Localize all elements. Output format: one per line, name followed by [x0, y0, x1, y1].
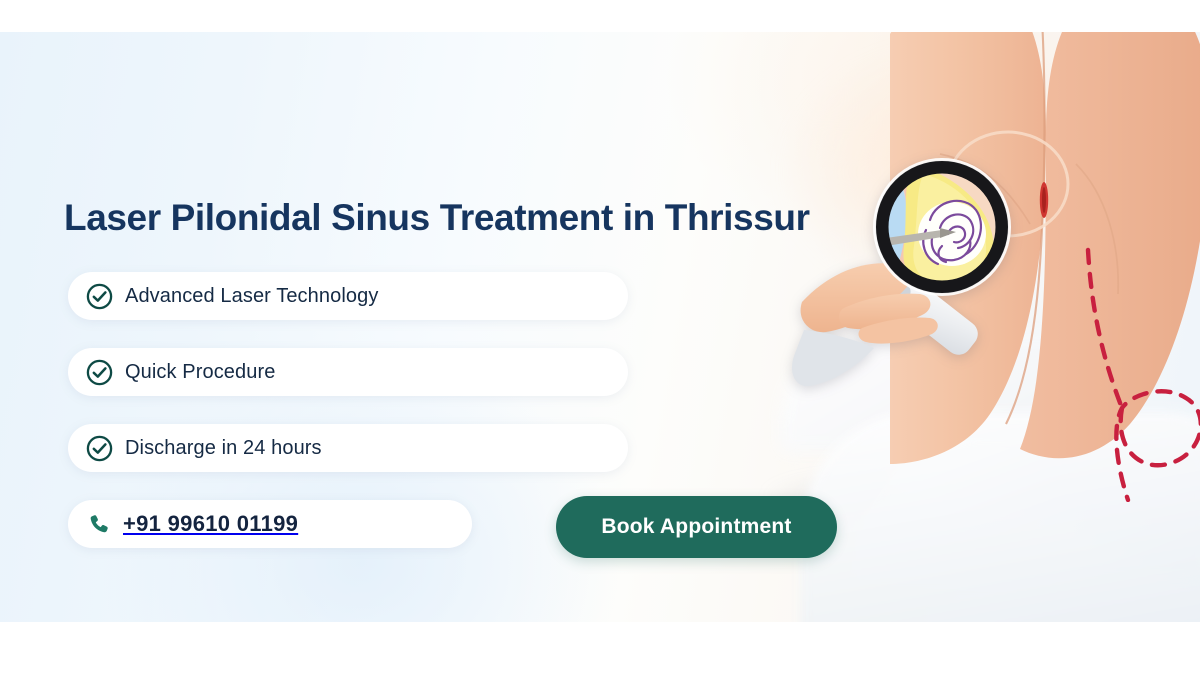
circle-check-icon	[86, 359, 113, 386]
magnifier-icon	[790, 142, 1050, 412]
feature-item-quick-procedure[interactable]: Quick Procedure	[68, 348, 628, 396]
cta-row: +91 99610 01199 Book Appointment	[68, 500, 868, 560]
feature-list: Advanced Laser Technology Quick Procedur…	[68, 272, 628, 500]
page-title: Laser Pilonidal Sinus Treatment in Thris…	[64, 197, 810, 239]
feature-label: Advanced Laser Technology	[125, 285, 378, 308]
circle-check-icon	[86, 283, 113, 310]
page-root: Laser Pilonidal Sinus Treatment in Thris…	[0, 0, 1200, 675]
feature-label: Quick Procedure	[125, 361, 275, 384]
phone-number: +91 99610 01199	[123, 511, 298, 537]
feature-item-discharge-in-24-hours[interactable]: Discharge in 24 hours	[68, 424, 628, 472]
hero-banner: Laser Pilonidal Sinus Treatment in Thris…	[0, 32, 1200, 622]
phone-icon	[88, 513, 110, 535]
feature-label: Discharge in 24 hours	[125, 437, 322, 460]
feature-item-advanced-laser-technology[interactable]: Advanced Laser Technology	[68, 272, 628, 320]
circle-check-icon	[86, 435, 113, 462]
phone-link[interactable]: +91 99610 01199	[68, 500, 472, 548]
book-appointment-button[interactable]: Book Appointment	[556, 496, 837, 558]
